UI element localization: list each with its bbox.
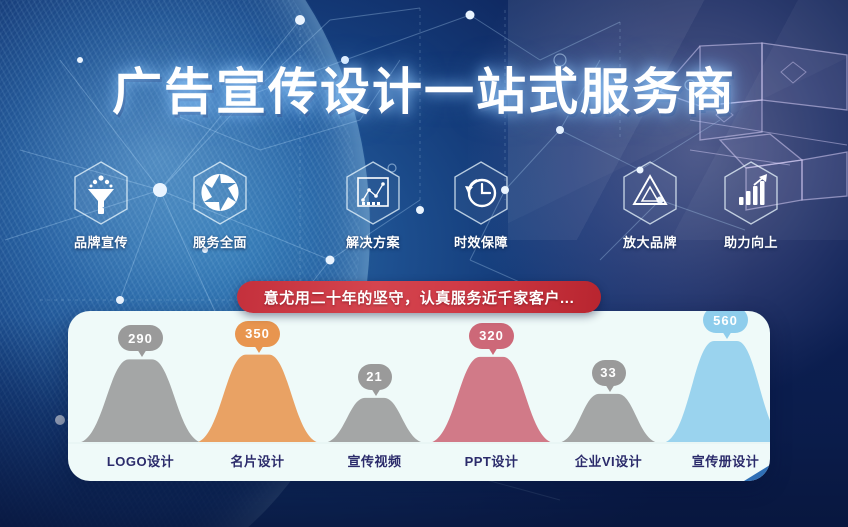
poster-canvas: 广告宣传设计一站式服务商 品牌宣传 — [0, 0, 848, 527]
category-label: 名片设计 — [198, 451, 318, 470]
promo-banner[interactable]: 意尤用二十年的坚守，认真服务近千家客户... — [237, 281, 601, 313]
feature-item-growth[interactable]: 助力向上 — [705, 160, 797, 251]
category-label: PPT设计 — [432, 451, 552, 470]
feature-label: 服务全面 — [174, 232, 266, 251]
triangle-brand-icon — [620, 160, 680, 226]
feature-label: 放大品牌 — [604, 232, 696, 251]
feature-item-service[interactable]: 服务全面 — [174, 160, 266, 251]
chart-baseline — [68, 442, 770, 444]
aperture-icon — [190, 160, 250, 226]
value-bubble: 33 — [592, 360, 626, 386]
analytics-icon — [343, 160, 403, 226]
megaphone-icon — [71, 160, 131, 226]
chart-area-1 — [194, 355, 322, 443]
feature-item-amplify[interactable]: 放大品牌 — [604, 160, 696, 251]
feature-item-brand[interactable]: 品牌宣传 — [55, 160, 147, 251]
category-label-group: LOGO设计名片设计宣传视频PPT设计企业VI设计宣传册设计 — [68, 451, 770, 469]
chart-card: 2903502132033560 LOGO设计名片设计宣传视频PPT设计企业VI… — [68, 311, 770, 481]
value-bubble-text: 21 — [366, 369, 382, 384]
value-bubble-text: 290 — [128, 331, 153, 346]
promo-banner-text: 意尤用二十年的坚守，认真服务近千家客户... — [264, 287, 575, 308]
chart-area-0 — [77, 359, 205, 443]
bar-arrow-up-icon — [721, 160, 781, 226]
value-bubble-tail — [254, 345, 264, 353]
chart-area-2 — [323, 398, 427, 443]
value-bubble-text: 33 — [600, 365, 616, 380]
feature-label: 解决方案 — [327, 232, 419, 251]
category-label: 宣传视频 — [315, 451, 435, 470]
chart-area-3 — [428, 357, 556, 443]
feature-label: 时效保障 — [435, 232, 527, 251]
feature-label: 品牌宣传 — [55, 232, 147, 251]
value-bubble: 560 — [703, 311, 748, 333]
feature-item-solution[interactable]: 解决方案 — [327, 160, 419, 251]
value-bubble-tail — [488, 347, 498, 355]
value-bubble-tail — [605, 384, 615, 392]
clock-rewind-icon — [451, 160, 511, 226]
value-bubble-text: 320 — [479, 328, 504, 343]
feature-label: 助力向上 — [705, 232, 797, 251]
value-bubble: 290 — [118, 325, 163, 351]
value-bubble-tail — [371, 388, 381, 396]
chart-area-5 — [662, 341, 771, 443]
value-bubble-tail — [137, 349, 147, 357]
feature-icon-row: 品牌宣传 服务全面 — [55, 160, 795, 250]
value-bubble: 320 — [469, 323, 514, 349]
category-label: 宣传册设计 — [666, 451, 771, 470]
feature-item-timeliness[interactable]: 时效保障 — [435, 160, 527, 251]
value-bubble-tail — [722, 331, 732, 339]
page-title: 广告宣传设计一站式服务商 — [0, 52, 848, 124]
value-bubble-text: 560 — [713, 313, 738, 328]
category-label: LOGO设计 — [81, 451, 201, 470]
value-bubble: 350 — [235, 321, 280, 347]
value-bubble: 21 — [358, 364, 392, 390]
value-bubble-text: 350 — [245, 326, 270, 341]
chart-area-4 — [557, 394, 661, 443]
category-label: 企业VI设计 — [549, 451, 669, 470]
